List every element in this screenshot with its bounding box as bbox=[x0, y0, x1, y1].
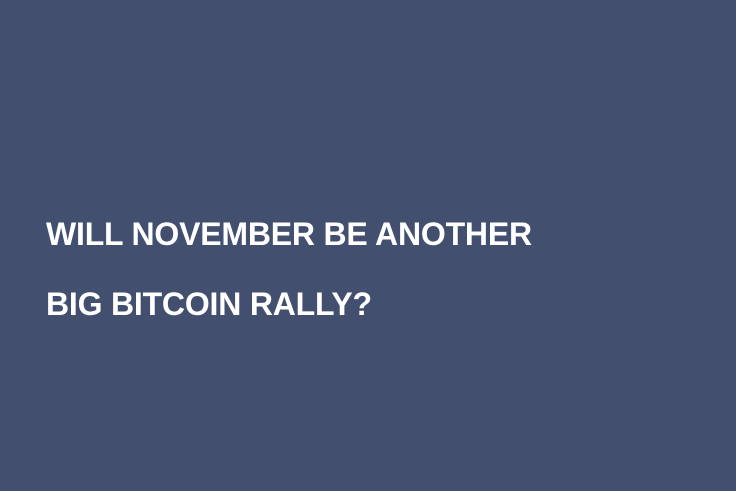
hero-banner: WILL NOVEMBER BE ANOTHER BIG BITCOIN RAL… bbox=[0, 0, 736, 491]
page-title: WILL NOVEMBER BE ANOTHER BIG BITCOIN RAL… bbox=[46, 182, 666, 357]
headline-line-1: WILL NOVEMBER BE ANOTHER bbox=[46, 217, 666, 252]
headline-block: WILL NOVEMBER BE ANOTHER BIG BITCOIN RAL… bbox=[46, 182, 666, 357]
headline-line-2: BIG BITCOIN RALLY? bbox=[46, 287, 666, 322]
